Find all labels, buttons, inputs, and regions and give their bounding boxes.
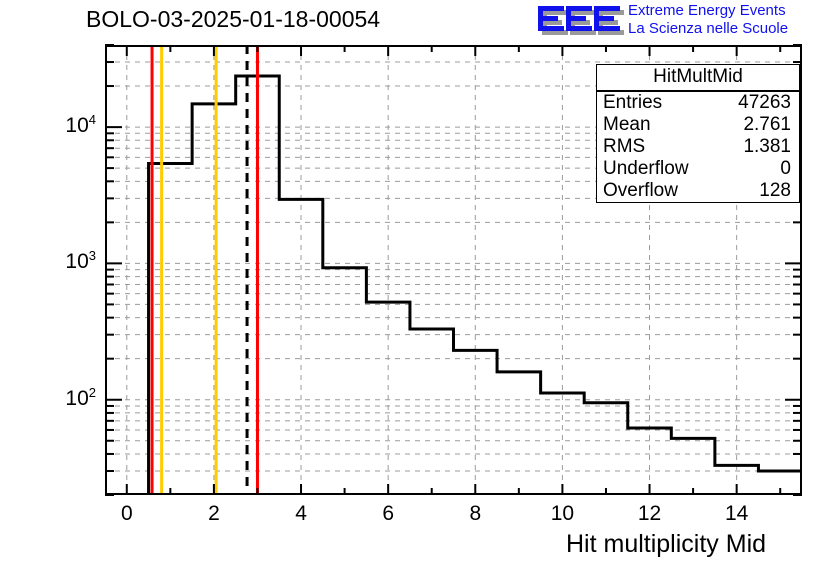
y-axis-tick-base: 10 <box>65 114 88 137</box>
stats-row-key: Underflow <box>603 158 689 180</box>
stats-box: HitMultMid Entries47263Mean2.761RMS1.381… <box>596 64 800 203</box>
stats-row-value: 0 <box>780 158 791 180</box>
stats-row-key: Overflow <box>603 180 678 202</box>
eee-logo-letters <box>536 4 624 36</box>
eee-logo-glyphs <box>536 4 624 38</box>
x-axis-tick-label: 2 <box>189 502 239 526</box>
y-axis-tick-label: 103 <box>20 248 96 274</box>
y-axis-tick-base: 10 <box>65 250 88 273</box>
y-axis-tick-exponent: 2 <box>89 385 96 400</box>
x-axis-title: Hit multiplicity Mid <box>566 530 766 559</box>
stats-row: Entries47263 <box>601 92 793 114</box>
x-axis-tick-label: 8 <box>450 502 500 526</box>
eee-logo-line2: La Scienza nelle Scuole <box>628 20 788 38</box>
stats-row-key: Entries <box>603 92 662 114</box>
stats-row-value: 47263 <box>738 92 791 114</box>
y-axis-tick-label: 102 <box>20 385 96 411</box>
stats-row-value: 128 <box>759 180 791 202</box>
x-axis-tick-label: 10 <box>537 502 587 526</box>
x-axis-tick-label: 12 <box>625 502 675 526</box>
stats-row: Overflow128 <box>601 180 793 202</box>
eee-logo: Extreme Energy Events La Scienza nelle S… <box>536 2 834 40</box>
stats-row-value: 1.381 <box>743 136 791 158</box>
y-axis-tick-exponent: 3 <box>89 248 96 263</box>
x-axis-tick-label: 14 <box>712 502 762 526</box>
page-title: BOLO-03-2025-01-18-00054 <box>86 6 380 33</box>
y-axis-tick-exponent: 4 <box>89 112 96 127</box>
x-axis-tick-label: 6 <box>363 502 413 526</box>
y-axis-tick-label: 104 <box>20 112 96 138</box>
stats-box-title: HitMultMid <box>597 66 799 92</box>
stats-row: RMS1.381 <box>601 136 793 158</box>
stats-row-key: Mean <box>603 114 651 136</box>
stats-row-value: 2.761 <box>743 114 791 136</box>
eee-logo-line1: Extreme Energy Events <box>628 2 788 20</box>
x-axis-tick-label: 4 <box>276 502 326 526</box>
eee-logo-text: Extreme Energy Events La Scienza nelle S… <box>628 2 788 38</box>
stats-row: Mean2.761 <box>601 114 793 136</box>
stats-row-key: RMS <box>603 136 645 158</box>
y-axis-tick-base: 10 <box>65 387 88 410</box>
stats-row: Underflow0 <box>601 158 793 180</box>
x-axis-tick-label: 0 <box>102 502 152 526</box>
